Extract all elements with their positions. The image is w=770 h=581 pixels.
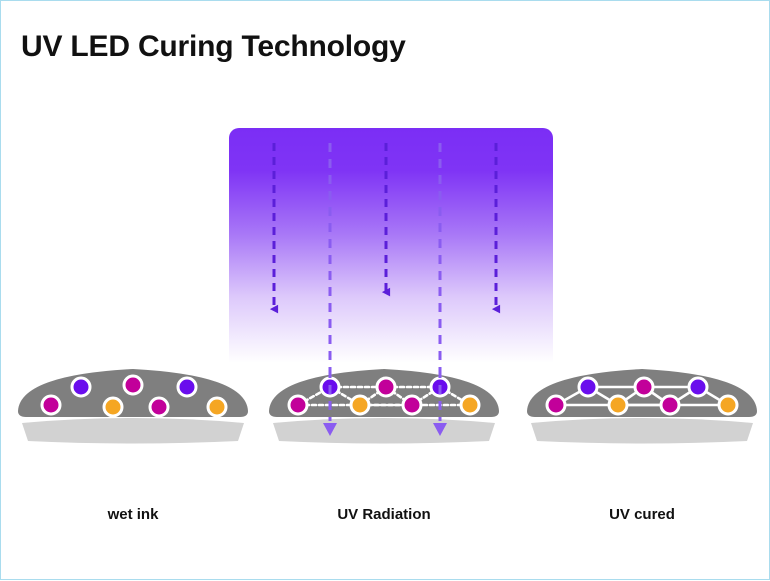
pigment-dot xyxy=(178,378,196,396)
panel-uv-cured xyxy=(527,369,757,444)
pigment-dot xyxy=(403,396,421,414)
caption-uv-cured: UV cured xyxy=(609,506,675,523)
pigment-dot xyxy=(208,398,226,416)
substrate-layer xyxy=(531,418,753,444)
pigment-dot xyxy=(635,378,653,396)
pigment-dot xyxy=(72,378,90,396)
pigment-dot xyxy=(104,398,122,416)
pigment-dot xyxy=(609,396,627,414)
pigment-dot xyxy=(351,396,369,414)
pigment-dot xyxy=(377,378,395,396)
pigment-dot xyxy=(661,396,679,414)
curing-stages xyxy=(1,1,770,581)
pigment-dot xyxy=(689,378,707,396)
pigment-dot xyxy=(124,376,142,394)
pigment-dot xyxy=(547,396,565,414)
pigment-dot xyxy=(289,396,307,414)
caption-uv-radiation: UV Radiation xyxy=(337,506,430,523)
pigment-dot xyxy=(150,398,168,416)
substrate-layer xyxy=(273,418,495,444)
substrate-layer xyxy=(22,418,244,444)
caption-wet-ink: wet ink xyxy=(108,506,159,523)
panel-wet-ink xyxy=(18,369,248,444)
pigment-dot xyxy=(42,396,60,414)
pigment-dot xyxy=(719,396,737,414)
pigment-dot xyxy=(579,378,597,396)
pigment-dot xyxy=(461,396,479,414)
panel-uv-radiation xyxy=(269,369,499,444)
slide-canvas: UV LED Curing Technology xyxy=(0,0,770,580)
